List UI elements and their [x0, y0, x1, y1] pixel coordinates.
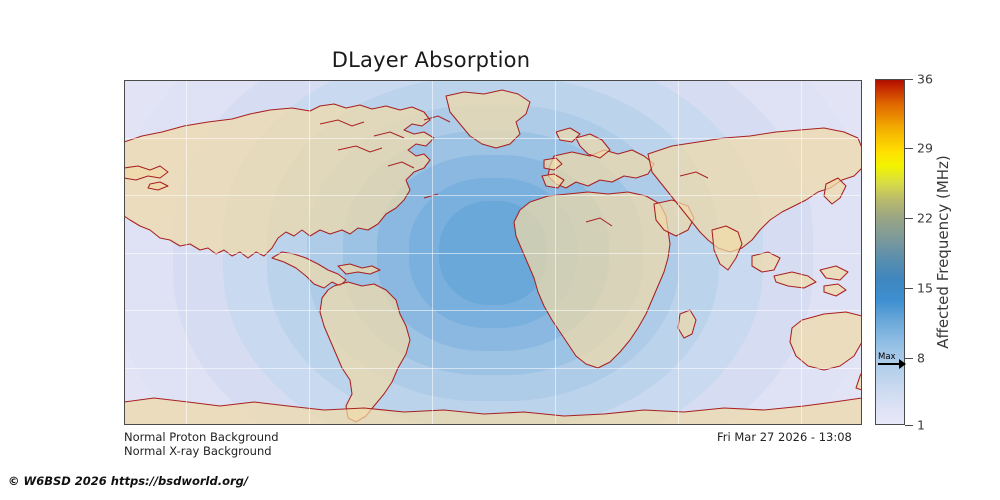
proton-background-note: Normal Proton Background	[124, 430, 279, 444]
colorbar-max-marker: Max	[877, 353, 905, 375]
map-graticule	[124, 80, 862, 425]
colorbar-axis-label: Affected Frequency (MHz)	[929, 79, 957, 425]
page-title: DLayer Absorption	[0, 48, 862, 72]
colorbar-tick-label: 8	[917, 351, 925, 366]
xray-background-note: Normal X-ray Background	[124, 444, 272, 458]
colorbar-tick-label: 1	[917, 418, 925, 433]
arrow-right-icon	[878, 363, 900, 365]
timestamp-label: Fri Mar 27 2026 - 13:08	[717, 430, 852, 444]
figure-canvas: DLayer Absorption	[0, 0, 1000, 500]
world-map[interactable]	[124, 80, 862, 425]
copyright-credit: © W6BSD 2026 https://bsdworld.org/	[8, 474, 248, 488]
